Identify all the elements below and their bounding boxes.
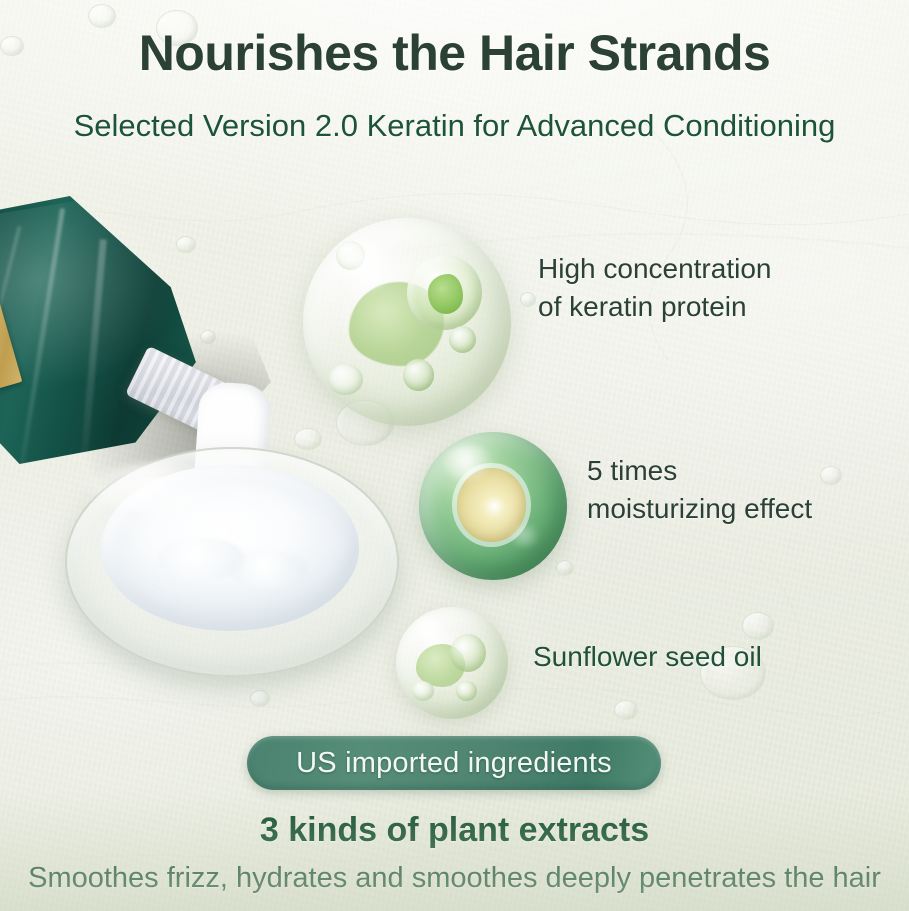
- page-title: Nourishes the Hair Strands: [0, 24, 909, 82]
- bubble-highlight: [332, 239, 403, 293]
- water-droplet-icon: [742, 612, 774, 640]
- glass-dish: [65, 447, 399, 677]
- bubble-highlight: [443, 445, 496, 481]
- ingredient-bubble-sunflower: [396, 607, 508, 719]
- feature-label-keratin: High concentration of keratin protein: [538, 250, 771, 326]
- feature-label-moisture: 5 times moisturizing effect: [587, 452, 812, 528]
- feature-label-sunflower: Sunflower seed oil: [533, 638, 762, 676]
- water-droplet-icon: [820, 466, 842, 485]
- bubble-inner-droplet: [328, 364, 363, 395]
- bubble-highlight: [412, 618, 450, 645]
- leaf-icon: [428, 274, 463, 314]
- dish-highlight: [87, 463, 239, 513]
- product-advertisement-poster: Nourishes the Hair Strands Selected Vers…: [0, 0, 909, 911]
- page-subtitle: Selected Version 2.0 Keratin for Advance…: [0, 108, 909, 144]
- bubble-inner-droplet: [449, 326, 476, 353]
- water-droplet-icon: [614, 700, 638, 720]
- badge-label: US imported ingredients: [296, 747, 612, 780]
- bubble-inner-droplet: [456, 681, 476, 701]
- background-bottom-shadow: [0, 791, 909, 911]
- bubble-highlight: [505, 524, 543, 548]
- ingredient-bubble-keratin: [303, 218, 511, 426]
- ingredient-bubble-moisture: [419, 432, 567, 580]
- us-imported-ingredients-badge: US imported ingredients: [247, 736, 661, 790]
- water-droplet-icon: [250, 690, 270, 707]
- bubble-inner-droplet: [403, 359, 434, 390]
- water-droplet-icon: [294, 428, 322, 450]
- bubble-inner-droplet: [412, 681, 434, 701]
- cream-swirl: [230, 551, 307, 588]
- water-droplet-icon: [520, 292, 536, 307]
- water-droplet-icon: [556, 560, 574, 576]
- bubble-inner-droplet: [450, 634, 486, 672]
